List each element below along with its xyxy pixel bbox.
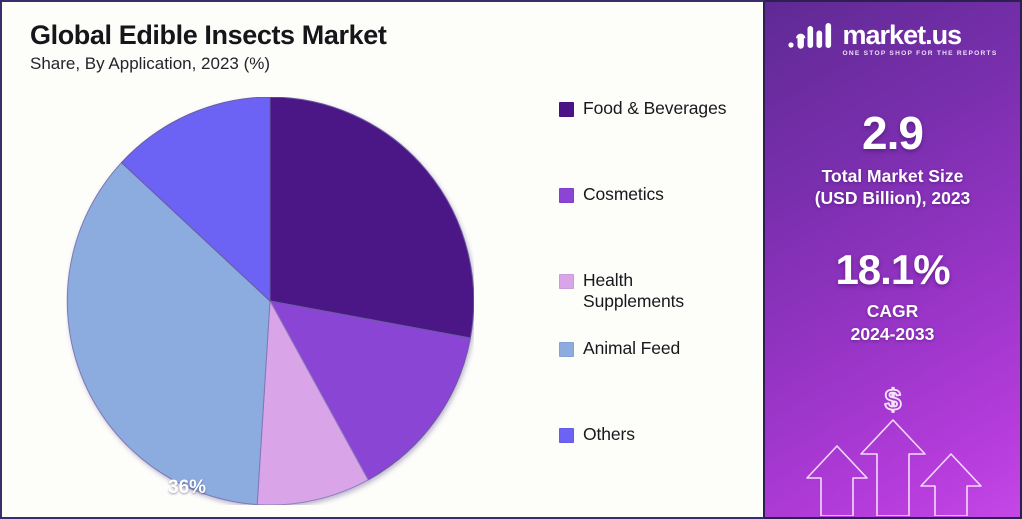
- legend-item-label-line2: Supplements: [583, 291, 684, 311]
- legend-swatch-icon: [559, 342, 574, 357]
- stat-caption-line2: (USD Billion), 2023: [815, 188, 971, 208]
- page-title: Global Edible Insects Market: [30, 20, 386, 50]
- arrow-up-right-icon: [921, 454, 981, 516]
- growth-arrows-illustration: $: [765, 376, 1020, 519]
- legend-item-label: Health Supplements: [583, 270, 684, 313]
- infographic-root: Global Edible Insects Market Share, By A…: [0, 0, 1022, 519]
- legend-item-label: Animal Feed: [583, 338, 680, 359]
- legend-swatch-icon: [559, 274, 574, 289]
- arrow-up-center-icon: [861, 420, 925, 516]
- legend-item-others[interactable]: Others: [559, 424, 759, 510]
- legend-swatch-icon: [559, 428, 574, 443]
- stat-caption: Total Market Size (USD Billion), 2023: [765, 165, 1020, 210]
- arrow-up-left-icon: [807, 446, 867, 516]
- market-us-logo-icon: [788, 22, 836, 57]
- legend-swatch-icon: [559, 188, 574, 203]
- legend-item-label: Cosmetics: [583, 184, 664, 205]
- pie-chart: 36%: [66, 97, 474, 505]
- stat-caption-line1: CAGR: [867, 301, 919, 321]
- legend-item-animal-feed[interactable]: Animal Feed: [559, 338, 759, 424]
- chart-panel: Global Edible Insects Market Share, By A…: [0, 0, 765, 519]
- pie-slices: [67, 97, 473, 505]
- stat-cagr: 18.1% CAGR 2024-2033: [765, 249, 1020, 345]
- chart-subtitle: Share, By Application, 2023 (%): [30, 54, 386, 74]
- legend-item-food-beverages[interactable]: Food & Beverages: [559, 98, 759, 184]
- legend-swatch-icon: [559, 102, 574, 117]
- stat-caption: CAGR 2024-2033: [765, 300, 1020, 345]
- stat-caption-line2: 2024-2033: [851, 324, 935, 344]
- stat-value: 2.9: [765, 110, 1020, 156]
- stat-value: 18.1%: [765, 249, 1020, 291]
- legend-item-label: Food & Beverages: [583, 98, 726, 119]
- legend-item-label: Others: [583, 424, 635, 445]
- stat-total-market-size: 2.9 Total Market Size (USD Billion), 202…: [765, 110, 1020, 210]
- dollar-sign-icon: $: [885, 384, 902, 417]
- brand-sidebar: market.us ONE STOP SHOP FOR THE REPORTS …: [765, 0, 1022, 519]
- brand-tagline: ONE STOP SHOP FOR THE REPORTS: [843, 51, 998, 58]
- chart-header: Global Edible Insects Market Share, By A…: [30, 20, 386, 74]
- brand-logo-text: market.us ONE STOP SHOP FOR THE REPORTS: [843, 22, 998, 58]
- brand-logo[interactable]: market.us ONE STOP SHOP FOR THE REPORTS: [765, 22, 1020, 58]
- legend-item-label-line1: Health: [583, 270, 633, 290]
- pie-slice-label-animal-feed: 36%: [168, 477, 206, 499]
- stat-caption-line1: Total Market Size: [822, 166, 964, 186]
- legend: Food & Beverages Cosmetics Health Supple…: [559, 98, 759, 510]
- brand-name: market.us: [843, 22, 962, 49]
- legend-item-cosmetics[interactable]: Cosmetics: [559, 184, 759, 270]
- pie-slice-food-beverages[interactable]: [270, 97, 474, 338]
- pie-chart-svg: [66, 97, 474, 505]
